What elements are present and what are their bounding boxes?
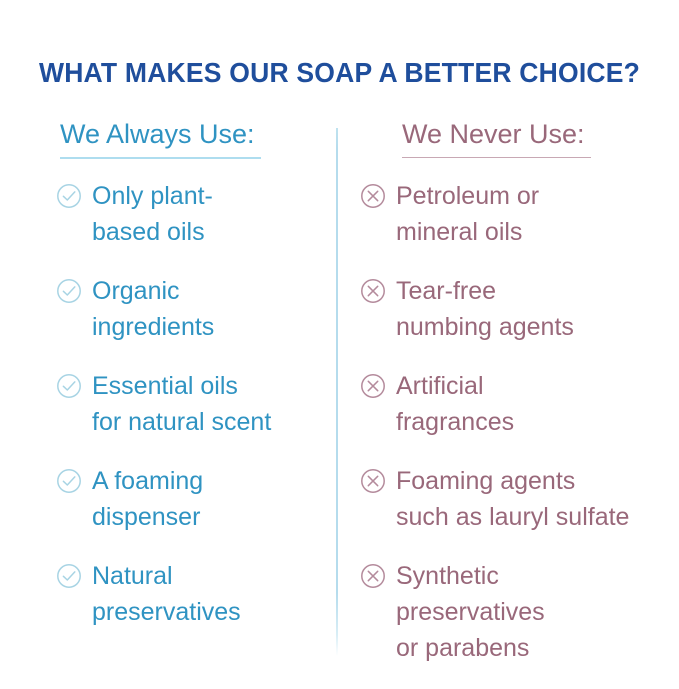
never-use-list: Petroleum ormineral oilsTear-freenumbing… xyxy=(360,178,672,689)
list-item-line: Synthetic xyxy=(396,558,672,594)
check-circle-icon xyxy=(56,563,82,589)
always-use-item: Essential oilsfor natural scent xyxy=(56,368,336,440)
list-item-line: Foaming agents xyxy=(396,463,672,499)
list-item-text: Petroleum ormineral oils xyxy=(396,178,672,250)
always-use-item: Only plant-based oils xyxy=(56,178,336,250)
never-use-heading: We Never Use: xyxy=(402,118,591,158)
list-item-line: Petroleum or xyxy=(396,178,672,214)
list-item-text: Syntheticpreservativesor parabens xyxy=(396,558,672,666)
list-item-text: Tear-freenumbing agents xyxy=(396,273,672,345)
x-circle-icon xyxy=(360,373,386,399)
never-use-item: Syntheticpreservativesor parabens xyxy=(360,558,672,666)
never-use-item: Tear-freenumbing agents xyxy=(360,273,672,345)
never-use-item: Foaming agentssuch as lauryl sulfate xyxy=(360,463,672,535)
x-circle-icon xyxy=(360,183,386,209)
always-use-column: We Always Use: Only plant-based oilsOrga… xyxy=(56,118,336,159)
list-item-text: A foamingdispenser xyxy=(92,463,336,535)
list-item-line: based oils xyxy=(92,214,336,250)
list-item-line: Natural xyxy=(92,558,336,594)
page-title: WHAT MAKES OUR SOAP A BETTER CHOICE? xyxy=(12,56,667,90)
list-item-text: Foaming agentssuch as lauryl sulfate xyxy=(396,463,672,535)
x-circle-icon xyxy=(360,278,386,304)
never-use-column: We Never Use: Petroleum ormineral oilsTe… xyxy=(360,118,672,158)
x-circle-icon xyxy=(360,563,386,589)
list-item-line: Artificial xyxy=(396,368,672,404)
check-circle-icon xyxy=(56,278,82,304)
list-item-line: mineral oils xyxy=(396,214,672,250)
always-use-heading: We Always Use: xyxy=(60,118,261,159)
list-item-line: Only plant- xyxy=(92,178,336,214)
list-item-line: Organic xyxy=(92,273,336,309)
list-item-line: preservatives xyxy=(396,594,672,630)
list-item-line: Essential oils xyxy=(92,368,336,404)
list-item-text: Naturalpreservatives xyxy=(92,558,336,630)
list-item-text: Artificialfragrances xyxy=(396,368,672,440)
list-item-text: Only plant-based oils xyxy=(92,178,336,250)
list-item-line: ingredients xyxy=(92,309,336,345)
always-use-item: A foamingdispenser xyxy=(56,463,336,535)
list-item-line: for natural scent xyxy=(92,404,336,440)
list-item-line: dispenser xyxy=(92,499,336,535)
list-item-line: or parabens xyxy=(396,630,672,666)
list-item-line: such as lauryl sulfate xyxy=(396,499,672,535)
list-item-line: Tear-free xyxy=(396,273,672,309)
never-use-item: Petroleum ormineral oils xyxy=(360,178,672,250)
always-use-list: Only plant-based oilsOrganicingredientsE… xyxy=(56,178,336,653)
list-item-line: A foaming xyxy=(92,463,336,499)
check-circle-icon xyxy=(56,183,82,209)
never-use-item: Artificialfragrances xyxy=(360,368,672,440)
soap-comparison-infographic: WHAT MAKES OUR SOAP A BETTER CHOICE? We … xyxy=(0,0,679,679)
always-use-item: Naturalpreservatives xyxy=(56,558,336,630)
check-circle-icon xyxy=(56,373,82,399)
column-divider xyxy=(336,128,338,656)
always-use-item: Organicingredients xyxy=(56,273,336,345)
x-circle-icon xyxy=(360,468,386,494)
list-item-line: numbing agents xyxy=(396,309,672,345)
list-item-text: Organicingredients xyxy=(92,273,336,345)
check-circle-icon xyxy=(56,468,82,494)
list-item-line: preservatives xyxy=(92,594,336,630)
list-item-text: Essential oilsfor natural scent xyxy=(92,368,336,440)
list-item-line: fragrances xyxy=(396,404,672,440)
